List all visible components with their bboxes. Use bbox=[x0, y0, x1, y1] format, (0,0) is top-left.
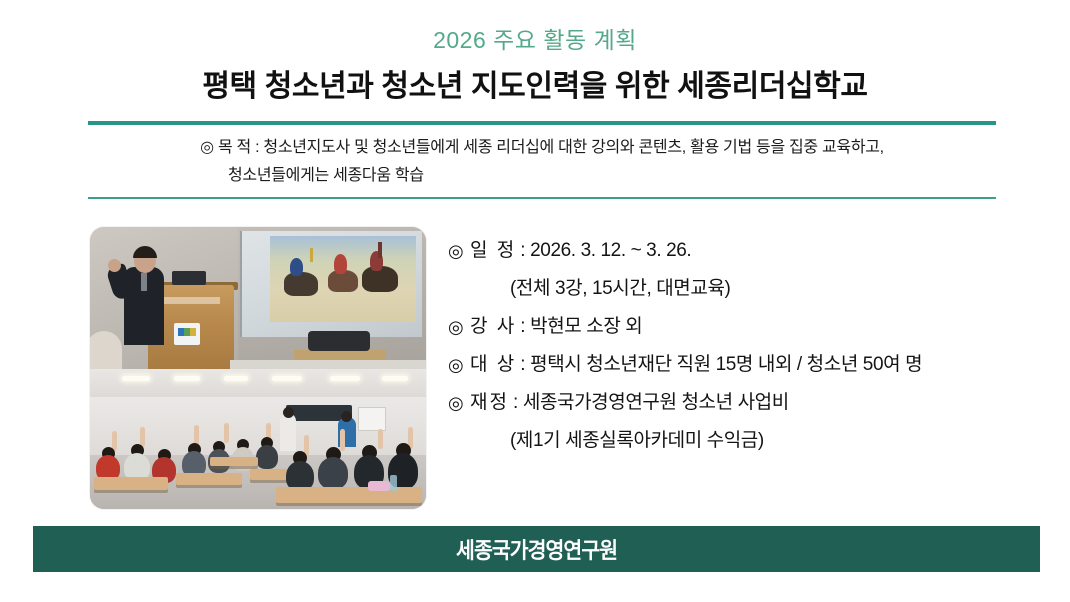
detail-row-audience: ◎ 대 상 : 평택시 청소년재단 직원 15명 내외 / 청소년 50여 명 bbox=[448, 346, 1008, 384]
water-bottle bbox=[390, 475, 397, 491]
speaker-hand bbox=[108, 259, 121, 272]
rider-figure bbox=[334, 254, 347, 274]
classroom-desk bbox=[176, 473, 242, 485]
detail-row-funding-note: (제1기 세종실록아카데미 수익금) bbox=[448, 422, 1008, 460]
ceiling-light bbox=[224, 376, 248, 381]
teacher-head bbox=[283, 407, 294, 418]
detail-value: (전체 3강, 15시간, 대면교육) bbox=[510, 270, 730, 308]
detail-value: 2026. 3. 12. ~ 3. 26. bbox=[530, 232, 691, 270]
photo-collage bbox=[90, 227, 426, 509]
projection-screen bbox=[240, 231, 422, 337]
historical-painting-slide bbox=[270, 236, 416, 322]
ceiling bbox=[90, 369, 426, 399]
bullet-icon: ◎ bbox=[448, 232, 470, 270]
detail-row-instructor: ◎ 강 사 : 박현모 소장 외 bbox=[448, 308, 1008, 346]
detail-value: 세종국가경영연구원 청소년 사업비 bbox=[523, 384, 789, 422]
student-figure bbox=[256, 445, 278, 469]
detail-separator: : bbox=[518, 308, 530, 346]
purpose-line-1: ◎ 목 적 : 청소년지도사 및 청소년들에게 세종 리더십에 대한 강의와 콘… bbox=[88, 134, 996, 162]
detail-row-schedule-note: (전체 3강, 15시간, 대면교육) bbox=[448, 270, 1008, 308]
classroom-photo bbox=[90, 369, 426, 509]
divider-top bbox=[88, 121, 996, 125]
flag-icon bbox=[310, 248, 313, 262]
divider-bottom bbox=[88, 197, 996, 199]
bullet-icon: ◎ bbox=[448, 384, 470, 422]
horse-icon bbox=[284, 272, 318, 296]
wall-poster bbox=[358, 407, 386, 431]
slide-eyebrow: 2026 주요 활동 계획 bbox=[0, 27, 1070, 55]
detail-separator: : bbox=[518, 232, 530, 270]
audience-figure bbox=[90, 331, 122, 369]
footer-bar: 세종국가경영연구원 bbox=[33, 526, 1040, 572]
podium-logo bbox=[174, 323, 200, 345]
teacher-head bbox=[341, 411, 352, 422]
ceiling-light bbox=[122, 376, 150, 381]
teacher-figure bbox=[280, 413, 296, 451]
purpose-line-2: 청소년들에게는 세종다움 학습 bbox=[88, 162, 996, 190]
lecture-photo bbox=[90, 227, 426, 369]
rider-figure bbox=[290, 258, 303, 276]
raised-hand bbox=[224, 423, 229, 443]
detail-row-funding: ◎ 재정 : 세종국가경영연구원 청소년 사업비 bbox=[448, 384, 1008, 422]
classroom-desk bbox=[210, 457, 258, 466]
organization-logo-text: 세종국가경영연구원 bbox=[456, 533, 617, 565]
presentation-slide: 2026 주요 활동 계획 평택 청소년과 청소년 지도인력을 위한 세종리더십… bbox=[0, 0, 1070, 602]
classroom-desk bbox=[276, 487, 422, 503]
flag-icon bbox=[378, 242, 382, 258]
detail-row-schedule: ◎ 일 정 : 2026. 3. 12. ~ 3. 26. bbox=[448, 232, 1008, 270]
page-title: 평택 청소년과 청소년 지도인력을 위한 세종리더십학교 bbox=[0, 68, 1070, 106]
projector-icon bbox=[308, 331, 370, 351]
classroom-desk bbox=[94, 477, 168, 490]
bullet-icon: ◎ bbox=[448, 346, 470, 384]
detail-separator: : bbox=[518, 346, 530, 384]
detail-label: 대 상 bbox=[470, 346, 518, 384]
detail-value: 박현모 소장 외 bbox=[530, 308, 642, 346]
detail-label: 강 사 bbox=[470, 308, 518, 346]
raised-hand bbox=[378, 429, 383, 449]
detail-list: ◎ 일 정 : 2026. 3. 12. ~ 3. 26. (전체 3강, 15… bbox=[448, 232, 1008, 460]
front-desk bbox=[230, 360, 426, 369]
pencil-pouch bbox=[368, 481, 390, 491]
detail-value: (제1기 세종실록아카데미 수익금) bbox=[510, 422, 764, 460]
detail-label: 일 정 bbox=[470, 232, 518, 270]
detail-separator: : bbox=[511, 384, 523, 422]
ceiling-light bbox=[174, 376, 200, 381]
detail-value: 평택시 청소년재단 직원 15명 내외 / 청소년 50여 명 bbox=[530, 346, 922, 384]
bullet-icon: ◎ bbox=[448, 308, 470, 346]
speaker-tie bbox=[141, 273, 147, 291]
student-figure bbox=[318, 457, 348, 489]
podium-nameplate bbox=[162, 297, 220, 304]
detail-label: 재정 bbox=[470, 384, 511, 422]
laptop-icon bbox=[172, 271, 206, 285]
purpose-block: ◎ 목 적 : 청소년지도사 및 청소년들에게 세종 리더십에 대한 강의와 콘… bbox=[88, 134, 996, 190]
ceiling-light bbox=[272, 376, 302, 381]
raised-hand bbox=[340, 429, 345, 451]
ceiling-light bbox=[382, 376, 408, 381]
ceiling-light bbox=[330, 376, 360, 381]
